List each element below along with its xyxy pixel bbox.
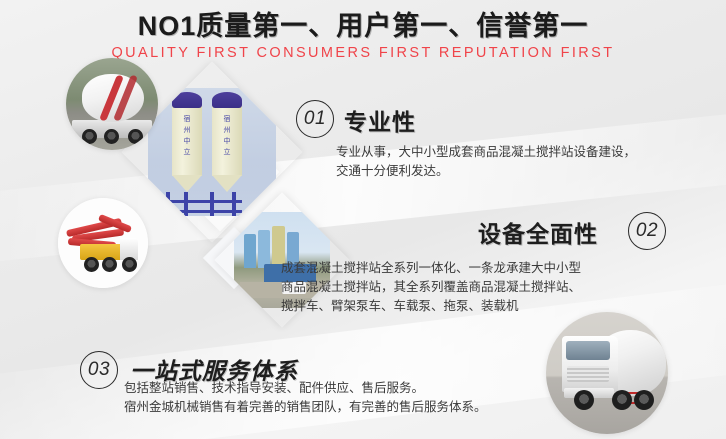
feature-number-01: 01 [296,100,334,138]
feature-02-line-3: 搅拌车、臂架泵车、车载泵、拖泵、装载机 [281,297,581,316]
feature-number-03: 03 [80,351,118,389]
mixer-drum-photo [66,58,158,150]
silo-label-char-2: 州 [172,125,202,136]
silo2-label-char-3: 中 [212,136,242,147]
mixer-truck-photo [546,312,668,434]
feature-body-02: 成套混凝土搅拌站全系列一体化、一条龙承建大中小型 商品混凝土搅拌站，其全系列覆盖… [281,259,581,316]
feature-02-line-1: 成套混凝土搅拌站全系列一体化、一条龙承建大中小型 [281,259,581,278]
headline-title: NO1质量第一、用户第一、信誉第一 [0,10,726,42]
promo-banner: NO1质量第一、用户第一、信誉第一 QUALITY FIRST CONSUMER… [0,0,726,439]
pump-truck-photo [58,198,148,288]
silo-label-char-4: 立 [172,147,202,158]
banner-header: NO1质量第一、用户第一、信誉第一 QUALITY FIRST CONSUMER… [0,10,726,62]
feature-body-03: 包括整站销售、技术指导安装、配件供应、售后服务。 宿州金城机械销售有着完善的销售… [124,379,487,417]
feature-01-line-2: 交通十分便利发达。 [336,162,636,181]
silo-label-char-3: 中 [172,136,202,147]
feature-number-02: 02 [628,212,666,250]
feature-body-01: 专业从事，大中小型成套商品混凝土搅拌站设备建设， 交通十分便利发达。 [336,143,636,181]
silo2-label-char-2: 州 [212,125,242,136]
silo2-label-char-4: 立 [212,147,242,158]
silo2-label-char-1: 宿 [212,114,242,125]
feature-03-line-2: 宿州金城机械销售有着完善的销售团队，有完善的售后服务体系。 [124,398,487,417]
feature-03-line-1: 包括整站销售、技术指导安装、配件供应、售后服务。 [124,379,487,398]
feature-01-line-1: 专业从事，大中小型成套商品混凝土搅拌站设备建设， [336,143,636,162]
feature-title-02: 设备全面性 [478,215,598,249]
silo-label-char-1: 宿 [172,114,202,125]
feature-02-line-2: 商品混凝土搅拌站，其全系列覆盖商品混凝土搅拌站、 [281,278,581,297]
feature-title-01: 专业性 [344,103,416,137]
